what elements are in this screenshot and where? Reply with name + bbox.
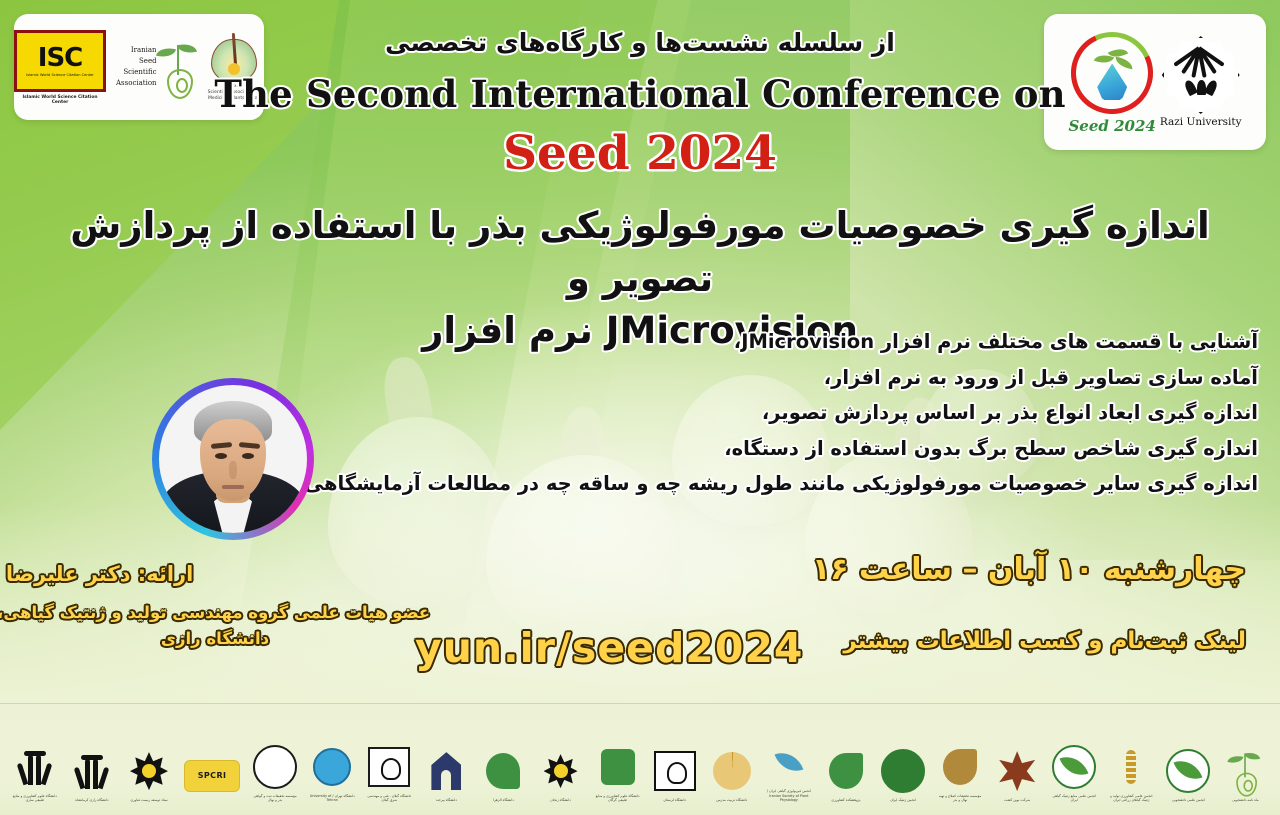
conference-brand-title: Seed 2024: [0, 126, 1280, 181]
sponsor-logo: ستاد توسعه زیست فناوری: [126, 717, 172, 803]
sponsor-name: دانشگاه تربیت مدرس: [716, 798, 747, 802]
sponsor-logo: دانشگاه علوم کشاورزی و منابع طبیعی ساری: [12, 717, 58, 803]
sponsor-name: ستاد توسعه زیست فناوری: [130, 798, 167, 802]
conference-poster: ۱۳۸۶ Scientific Association of Medicinal…: [0, 0, 1280, 815]
registration-label: لینک ثبت‌نام و کسب اطلاعات بیشتر: [843, 628, 1246, 654]
topic-item: اندازه گیری ابعاد انواع بذر بر اساس پردا…: [538, 403, 1258, 423]
sponsor-logo: شرکت نوین کشت: [994, 717, 1040, 803]
sponsor-logo: انجمن ژنتیک ایران: [880, 717, 926, 803]
sponsor-logo: دانشگاه بیرجند: [423, 717, 469, 803]
sponsor-name: انجمن علمی کشاورزی تولید و ژنتیک گیاهان …: [1108, 794, 1154, 803]
conference-english-title: The Second International Conference on: [0, 72, 1280, 116]
sponsor-name: مؤسسه تحقیقات ثبت و گواهی بذر و نهال: [252, 794, 298, 803]
sponsor-logo-strip: ماه نامه دانشجویی انجمن علمی دانشجویی ان…: [0, 703, 1280, 815]
series-kicker: از سلسله نشست‌ها و کارگاه‌های تخصصی: [0, 28, 1280, 57]
sponsor-name: دانشگاه لرستان: [663, 798, 685, 802]
topic-item: اندازه گیری شاخص سطح برگ بدون استفاده از…: [538, 439, 1258, 459]
sponsor-logo: انجمن علمی کشاورزی تولید و ژنتیک گیاهان …: [1108, 717, 1154, 803]
sponsor-name: پژوهشکده کشاورزی: [831, 798, 860, 802]
sponsor-name: شرکت نوین کشت: [1004, 798, 1030, 802]
topic-item: آشنایی با قسمت های مختلف نرم افزار JMicr…: [538, 332, 1258, 352]
sponsor-logo: انجمن علمی دانشجویی: [1165, 717, 1211, 803]
topic-item: آماده سازی تصاویر قبل از ورود به نرم افز…: [538, 368, 1258, 388]
topic-item: اندازه گیری سایر خصوصیات مورفولوژیکی مان…: [538, 474, 1258, 494]
sponsor-name: دانشگاه بیرجند: [436, 798, 457, 802]
spcri-badge: SPCRI: [184, 760, 240, 792]
sponsor-name: دانشگاه الزهرا: [493, 798, 514, 802]
sponsor-logo: SPCRI: [183, 717, 241, 803]
sponsor-logo: مؤسسه تحقیقات ثبت و گواهی بذر و نهال: [252, 717, 298, 803]
sponsor-name: دانشگاه رازی کرمانشاه: [75, 798, 108, 802]
sponsor-name: دانشگاه گیلان - فنی و مهندسی شرق گیلان: [366, 794, 412, 803]
sponsor-logo: دانشگاه گیلان - فنی و مهندسی شرق گیلان: [366, 717, 412, 803]
speaker-affiliation: عضو هیات علمی گروه مهندسی تولید و ژنتیک …: [0, 600, 430, 651]
sponsor-name: انجمن ژنتیک ایران: [890, 798, 916, 802]
sponsor-name: انجمن علمی منابع ژنتیک گیاهی ایران: [1051, 794, 1097, 803]
sponsor-logo: دانشگاه زنجان: [538, 717, 584, 803]
sponsor-logo: انجمن فیزیولوژی گیاهی ایران / Iranian So…: [766, 717, 812, 803]
sponsor-logo: دانشگاه تهران / University of Tehran: [309, 717, 355, 803]
workshop-title-line-1: اندازه گیری خصوصیات مورفولوژیکی بذر با ا…: [70, 200, 1210, 305]
sponsor-name: ماه نامه دانشجویی: [1232, 798, 1259, 802]
speaker-portrait: [159, 385, 307, 533]
speaker-affiliation-line-1: عضو هیات علمی گروه مهندسی تولید و ژنتیک …: [0, 600, 430, 626]
speaker-name: ارائه: دکتر علیرضا باقری: [0, 562, 280, 586]
sponsor-name: دانشگاه تهران / University of Tehran: [309, 794, 355, 803]
sponsor-logo: دانشگاه لرستان: [652, 717, 698, 803]
sponsor-logo: دانشگاه رازی کرمانشاه: [69, 717, 115, 803]
registration-link[interactable]: yun.ir/seed2024: [415, 624, 803, 672]
issa-line-2: Seed: [116, 56, 157, 67]
sponsor-name: دانشگاه علوم کشاورزی و منابع طبیعی ساری: [12, 794, 58, 803]
sponsor-logo: دانشگاه تربیت مدرس: [709, 717, 755, 803]
sponsor-logo: پژوهشکده کشاورزی: [823, 717, 869, 803]
speaker-avatar: [152, 378, 314, 540]
sponsor-logo: مؤسسه تحقیقات اصلاح و تهیه نهال و بذر: [937, 717, 983, 803]
sponsor-name: انجمن فیزیولوژی گیاهی ایران / Iranian So…: [766, 789, 812, 802]
sponsor-logo: ماه نامه دانشجویی: [1222, 717, 1268, 803]
speaker-affiliation-line-2: دانشگاه رازی: [0, 626, 430, 652]
event-datetime: چهارشنبه ۱۰ آبان – ساعت ۱۶: [812, 552, 1246, 587]
sponsor-name: مؤسسه تحقیقات اصلاح و تهیه نهال و بذر: [937, 794, 983, 803]
sponsor-logo: انجمن علمی منابع ژنتیک گیاهی ایران: [1051, 717, 1097, 803]
sponsor-logo: دانشگاه الزهرا: [480, 717, 526, 803]
sponsor-name: انجمن علمی دانشجویی: [1172, 798, 1205, 802]
topics-list: آشنایی با قسمت های مختلف نرم افزار JMicr…: [538, 332, 1258, 510]
sponsor-name: دانشگاه زنجان: [550, 798, 570, 802]
sponsor-logo: دانشگاه علوم کشاورزی و منابع طبیعی گرگان: [595, 717, 641, 803]
sponsor-name: دانشگاه علوم کشاورزی و منابع طبیعی گرگان: [595, 794, 641, 803]
